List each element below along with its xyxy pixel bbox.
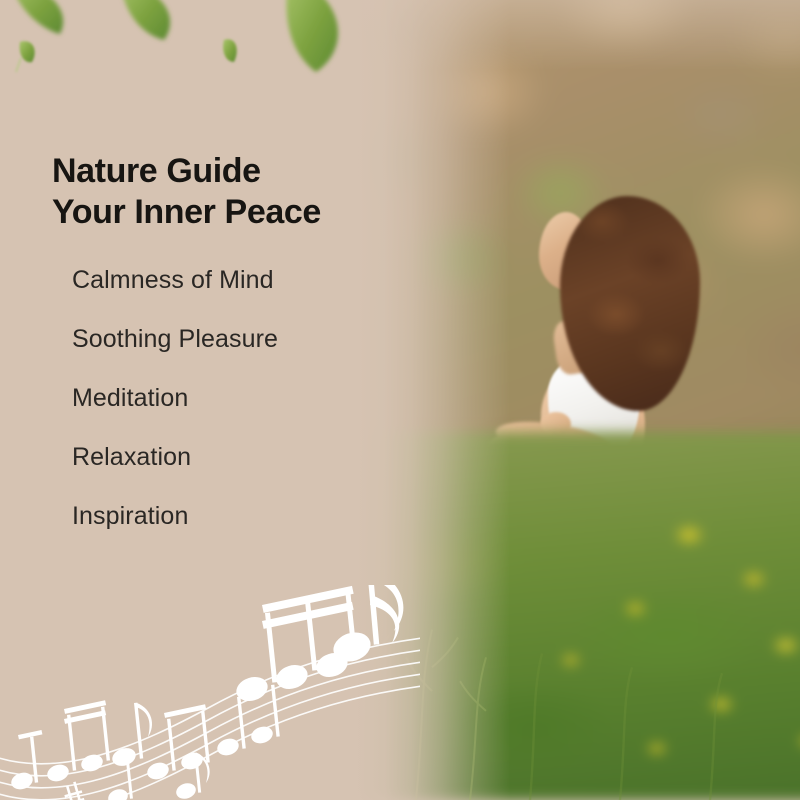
list-item: Inspiration <box>72 504 278 529</box>
list-item: Meditation <box>72 386 278 411</box>
falling-leaves-icon <box>0 0 400 120</box>
page-title: Nature Guide Your Inner Peace <box>52 151 321 234</box>
list-item: Soothing Pleasure <box>72 327 278 352</box>
list-item: Relaxation <box>72 445 278 470</box>
music-notes-icon <box>0 585 420 800</box>
poster: Nature Guide Your Inner Peace Calmness o… <box>0 0 800 800</box>
list-item: Calmness of Mind <box>72 268 278 293</box>
benefits-list: Calmness of Mind Soothing Pleasure Medit… <box>72 268 278 563</box>
